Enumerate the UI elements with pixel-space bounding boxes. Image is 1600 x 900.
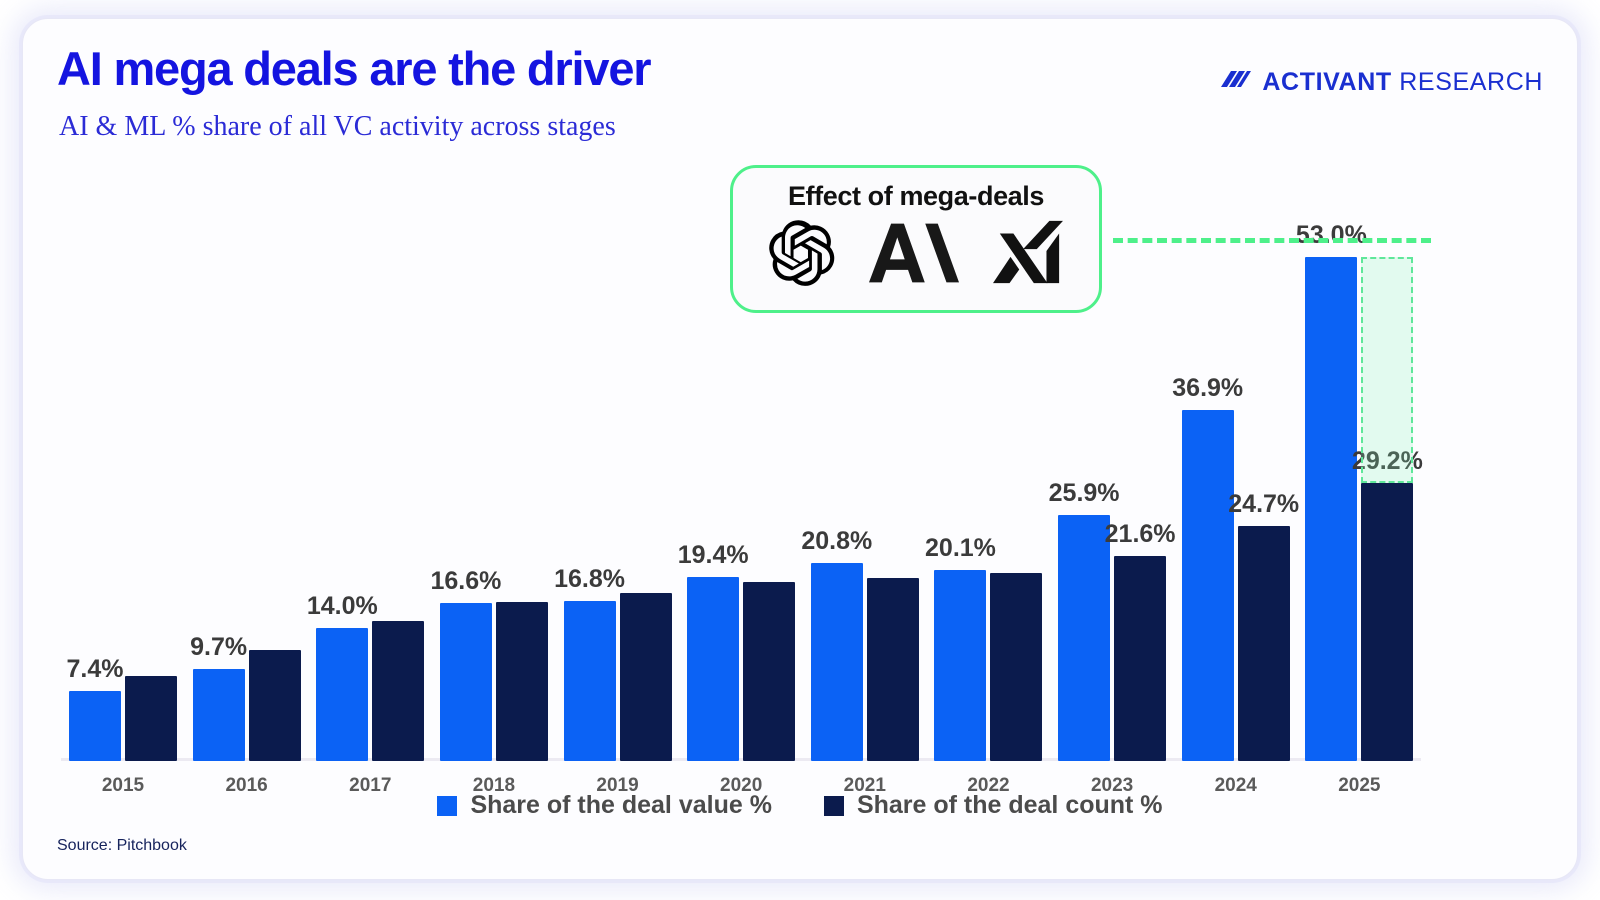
bar-2023-deal-count[interactable] [1114,556,1166,761]
bar-2017-deal-value[interactable] [316,628,368,761]
bar-2020-deal-count[interactable] [743,582,795,761]
bar-label-2022-deal-value: 20.1% [925,534,996,563]
logo-wordmark: ACTIVANT RESEARCH [1262,68,1543,97]
bar-2025-deal-value[interactable] [1305,257,1357,761]
bar-label-2024-deal-count: 24.7% [1228,490,1299,519]
bar-label-2023-deal-value: 25.9% [1049,479,1120,508]
mega-deal-reference-line [1113,238,1431,243]
bar-2021-deal-value[interactable] [811,563,863,761]
bar-2016-deal-count[interactable] [249,650,301,761]
bar-2016-deal-value[interactable] [193,669,245,761]
bar-label-2017-deal-value: 14.0% [307,592,378,621]
bar-label-2023-deal-count: 21.6% [1105,520,1176,549]
bar-2022-deal-count[interactable] [990,573,1042,761]
activant-mark-icon [1217,67,1251,98]
bar-2023-deal-value[interactable] [1058,515,1110,761]
mega-deal-highlight-rect [1361,257,1413,483]
page-subtitle: AI & ML % share of all VC activity acros… [59,111,616,143]
chart-card: AI mega deals are the driver AI & ML % s… [22,18,1578,880]
mega-deals-callout: Effect of mega-deals [730,165,1102,313]
bar-label-2018-deal-value: 16.6% [430,567,501,596]
bar-label-2020-deal-value: 19.4% [678,541,749,570]
chart-legend: Share of the deal value % Share of the d… [23,791,1577,820]
legend-swatch-deal-value [437,796,457,816]
xai-logo-icon [993,220,1063,291]
bar-label-2016-deal-value: 9.7% [190,633,247,662]
anthropic-logo-icon [869,221,959,290]
legend-swatch-deal-count [824,796,844,816]
bar-2025-deal-count[interactable] [1361,483,1413,761]
bar-label-2019-deal-value: 16.8% [554,565,625,594]
openai-logo-icon [769,220,835,291]
legend-label-deal-value: Share of the deal value % [470,791,772,820]
legend-item-deal-value[interactable]: Share of the deal value % [437,791,772,820]
bar-label-2021-deal-value: 20.8% [801,527,872,556]
bar-2018-deal-value[interactable] [440,603,492,761]
activant-research-logo: ACTIVANT RESEARCH [1217,67,1543,98]
bar-label-2024-deal-value: 36.9% [1172,374,1243,403]
callout-heading: Effect of mega-deals [788,181,1044,212]
bar-2019-deal-count[interactable] [620,593,672,761]
bar-2024-deal-count[interactable] [1238,526,1290,761]
bar-2020-deal-value[interactable] [687,577,739,761]
bar-2015-deal-value[interactable] [69,691,121,761]
bar-2018-deal-count[interactable] [496,602,548,761]
logo-primary-text: ACTIVANT [1262,68,1391,96]
legend-item-deal-count[interactable]: Share of the deal count % [824,791,1163,820]
source-note: Source: Pitchbook [57,837,187,855]
bar-label-2025-deal-value: 53.0% [1296,221,1367,250]
bar-2022-deal-value[interactable] [934,570,986,761]
logo-secondary-text: RESEARCH [1399,68,1543,96]
bar-label-2015-deal-value: 7.4% [67,655,124,684]
callout-logo-row [769,220,1063,291]
bar-2024-deal-value[interactable] [1182,410,1234,761]
bar-2015-deal-count[interactable] [125,676,177,761]
bar-2019-deal-value[interactable] [564,601,616,761]
legend-label-deal-count: Share of the deal count % [857,791,1163,820]
bar-2021-deal-count[interactable] [867,578,919,761]
bar-2017-deal-count[interactable] [372,621,424,761]
page-title: AI mega deals are the driver [57,41,650,96]
